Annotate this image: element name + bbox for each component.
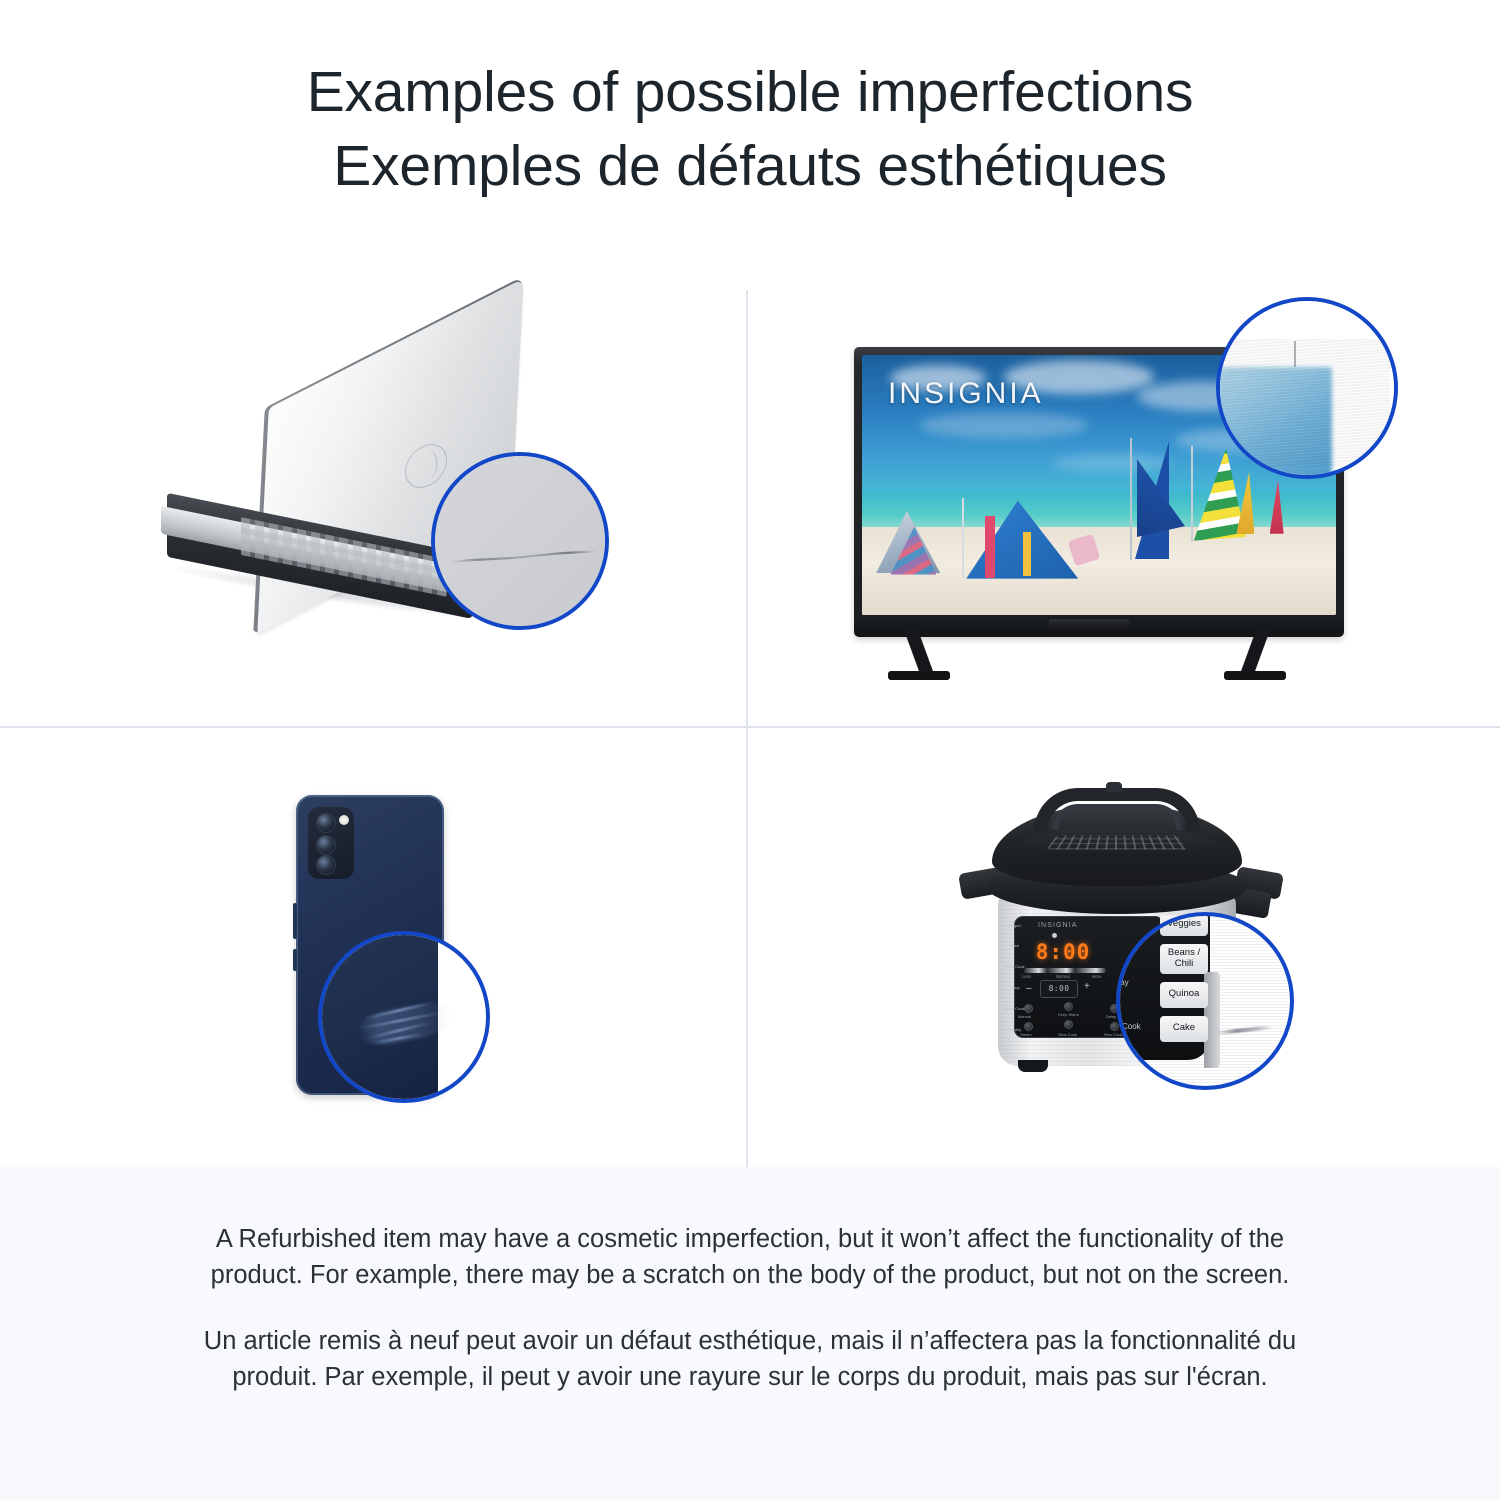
footer-disclaimer: A Refurbished item may have a cosmetic i… <box>0 1167 1500 1500</box>
product-examples-grid: INSIGNIA <box>0 258 1500 1167</box>
tv-stand-bar <box>1049 619 1129 629</box>
page-title-fr: Exemples de défauts esthétiques <box>333 129 1167 203</box>
camera-module <box>308 807 354 879</box>
camera-lens-icon <box>316 835 336 855</box>
sail-stripe-pink <box>985 516 995 578</box>
cooker-foot-left <box>1018 1060 1048 1072</box>
cooker-program-label[interactable]: Slow Cook <box>1004 1002 1026 1017</box>
tv-foot-pad-left <box>888 671 950 680</box>
cooker-button-label: Delay <box>1106 1014 1116 1019</box>
tv-brand-logo: INSIGNIA <box>888 377 1044 411</box>
slider-label-normal: Normal <box>1056 974 1070 979</box>
smartphone-illustration <box>208 763 538 1133</box>
magnifier-circle-laptop <box>431 452 609 630</box>
magnifier-circle-television <box>1216 297 1398 479</box>
magnifier-circle-pressure-cooker: Veggies Beans / Chili Quinoa Cake elay w… <box>1116 912 1294 1090</box>
cloud-shape <box>919 412 1089 438</box>
cooker-lcd-value: 8:00 <box>1049 984 1070 993</box>
tile-pressure-cooker: INSIGNIA 8:00 Less Normal More 8:00 – + <box>748 728 1500 1167</box>
television-illustration: INSIGNIA <box>844 297 1404 687</box>
cooker-button-label: Slow Cook <box>1058 1032 1077 1037</box>
cooker-program-label[interactable]: Poultry <box>1004 1024 1026 1037</box>
magnifier-circle-smartphone <box>318 931 490 1103</box>
cooker-button-label: Keep Warm <box>1058 1012 1079 1017</box>
sail-stripe-yellow <box>1023 532 1031 576</box>
cooker-lcd: 8:00 <box>1040 980 1078 998</box>
cooker-button[interactable] <box>1064 1002 1073 1011</box>
cooker-handle-inner <box>1052 804 1182 830</box>
laptop-illustration <box>113 332 633 652</box>
cooker-program-label[interactable]: Slow Cook <box>1004 960 1026 975</box>
minus-icon[interactable]: – <box>1026 983 1032 994</box>
camera-lens-icon <box>316 813 336 833</box>
phone-volume-button <box>293 903 297 939</box>
disclaimer-text-en: A Refurbished item may have a cosmetic i… <box>185 1221 1315 1293</box>
cooker-program-label[interactable]: Soup <box>1004 982 1026 995</box>
closeup-label-veggies: Veggies <box>1160 914 1208 936</box>
plus-icon[interactable]: + <box>1084 981 1090 992</box>
disclaimer-text-fr: Un article remis à neuf peut avoir un dé… <box>185 1323 1315 1395</box>
tile-television: INSIGNIA <box>748 258 1500 726</box>
closeup-label-cake: Cake <box>1160 1016 1208 1042</box>
closeup-label-quinoa: Quinoa <box>1160 982 1208 1008</box>
page-title-en: Examples of possible imperfections <box>307 55 1194 129</box>
cooker-program-label[interactable]: Rice <box>1004 940 1026 953</box>
laptop-lid-closeup <box>435 456 605 626</box>
closeup-label-delay: elay <box>1116 978 1129 987</box>
cooker-button[interactable] <box>1110 1022 1119 1031</box>
cooker-program-label[interactable]: Yogurt <box>1004 920 1026 933</box>
closeup-label-beans-chili: Beans / Chili <box>1160 944 1208 974</box>
pressure-cooker-illustration: INSIGNIA 8:00 Less Normal More 8:00 – + <box>956 770 1292 1126</box>
cooker-button[interactable] <box>1064 1020 1073 1029</box>
cooker-brand-logo: INSIGNIA <box>1038 922 1078 929</box>
sea-band <box>862 490 1336 532</box>
cooker-pressure-slider[interactable] <box>1024 968 1106 973</box>
sail-mast <box>1130 438 1132 560</box>
cooker-pressure-valve <box>1106 782 1122 792</box>
tv-foot-pad-right <box>1224 671 1286 680</box>
camera-flash-icon <box>339 815 349 825</box>
slider-label-more: More <box>1092 974 1102 979</box>
cooker-time-display: 8:00 <box>1030 940 1096 964</box>
tile-laptop <box>0 258 746 726</box>
phone-power-button <box>293 949 297 971</box>
tile-smartphone <box>0 728 746 1167</box>
page-header: Examples of possible imperfections Exemp… <box>0 0 1500 258</box>
refurbished-imperfections-infographic: Examples of possible imperfections Exemp… <box>0 0 1500 1500</box>
camera-lens-icon <box>316 855 336 875</box>
tv-bezel-corner <box>1216 339 1390 467</box>
closeup-label-slow-cook: w Cook <box>1116 1022 1141 1031</box>
sail-mast <box>962 498 964 578</box>
cooker-left-label-column[interactable]: Yogurt Rice Slow Cook Soup Slow Cook Pou… <box>1004 918 1026 1038</box>
sail-mast <box>1191 446 1193 542</box>
cooker-indicator-light <box>1052 933 1057 938</box>
tv-bezel-seam <box>1294 341 1296 367</box>
